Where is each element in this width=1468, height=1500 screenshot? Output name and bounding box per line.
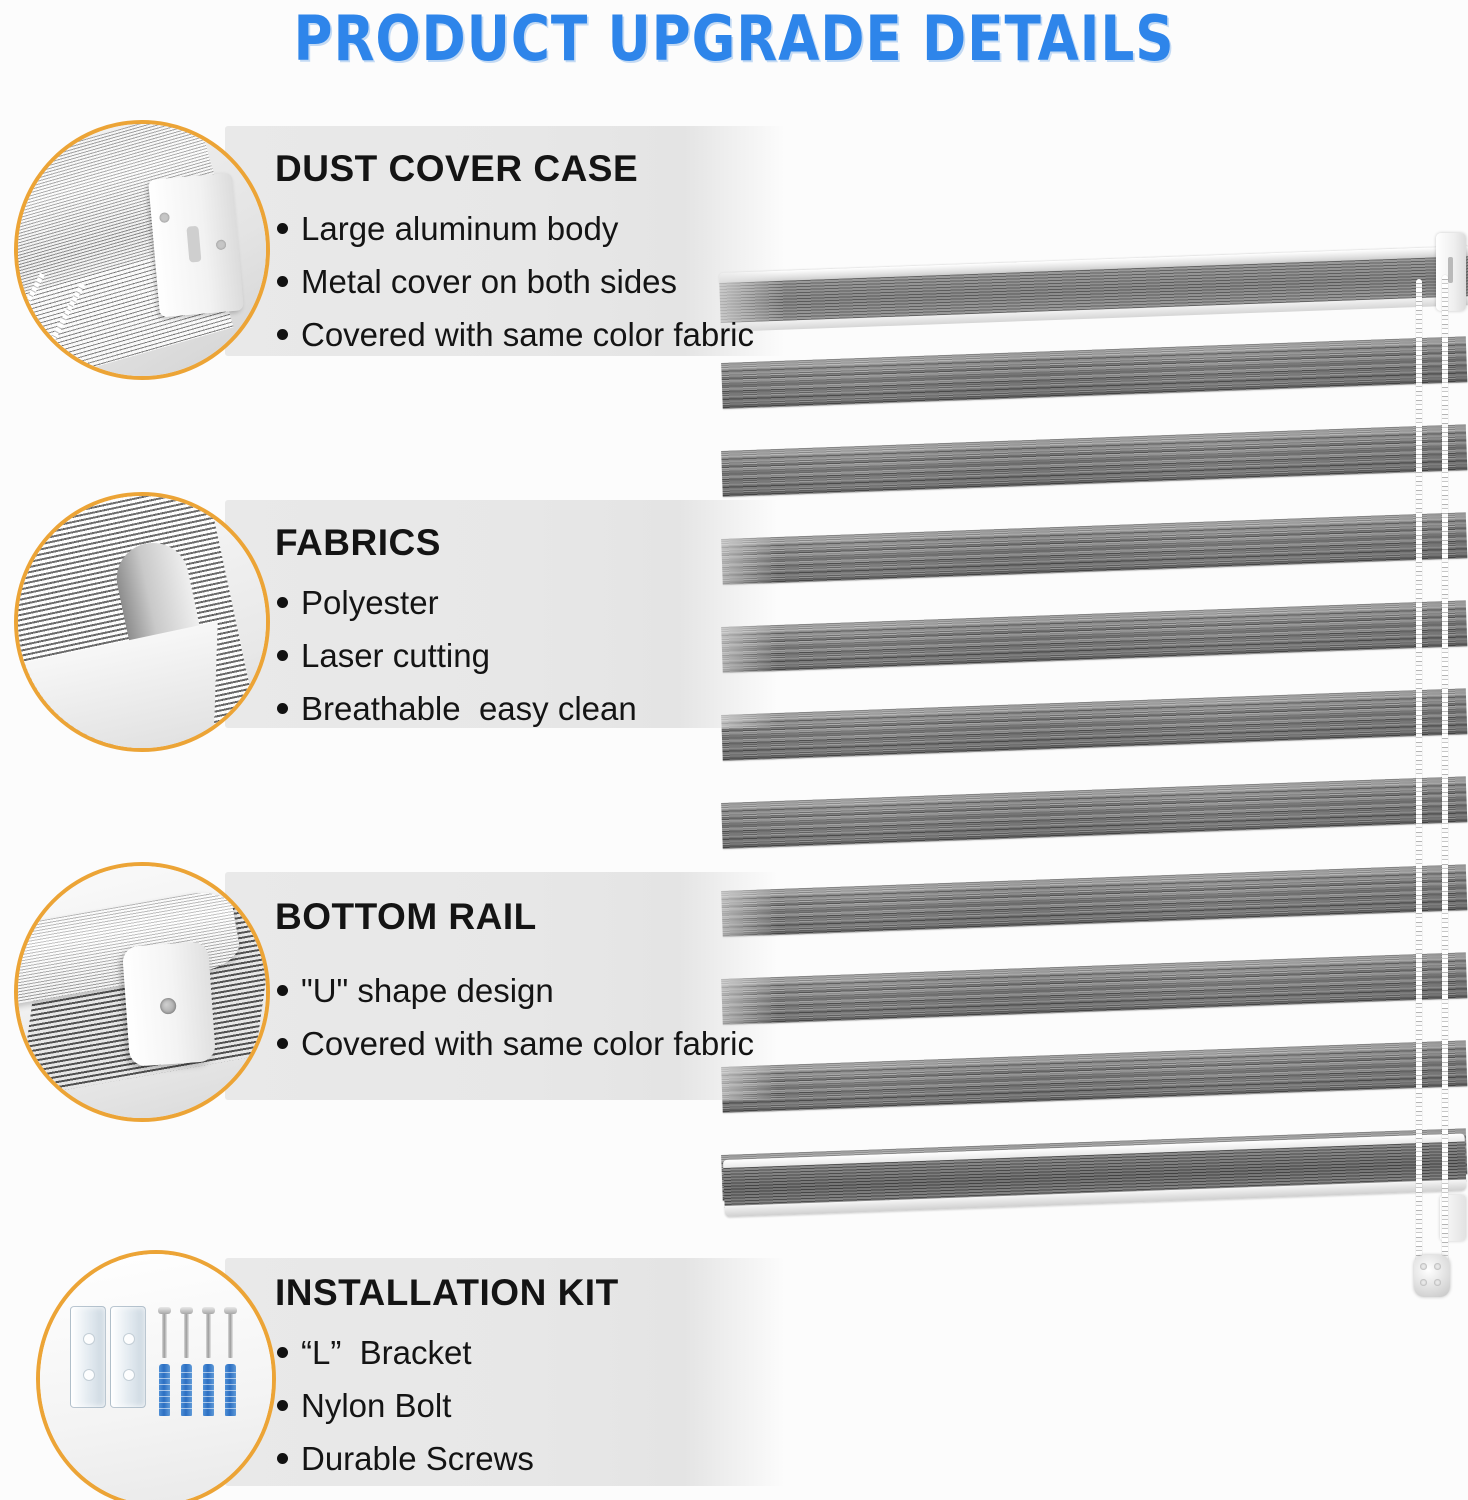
dust-cover-case-photo — [14, 120, 270, 380]
fabric-band — [721, 600, 1467, 673]
list-item: Polyester — [277, 584, 637, 622]
metal-end-plate — [148, 173, 244, 318]
section-title-fabrics: FABRICS — [275, 522, 441, 564]
list-item: Nylon Bolt — [277, 1387, 534, 1425]
bullet-dot-icon — [277, 650, 288, 661]
section-title-installation-kit: INSTALLATION KIT — [275, 1272, 619, 1314]
panel-installation-kit: INSTALLATION KIT “L” Bracket Nylon Bolt … — [225, 1258, 785, 1486]
panel-fabrics: FABRICS Polyester Laser cutting Breathab… — [225, 500, 778, 728]
nylon-anchor-icon — [203, 1364, 214, 1416]
bullet-text: Covered with same color fabric — [301, 1025, 754, 1063]
page-title: PRODUCT UPGRADE DETAILS — [103, 2, 1365, 75]
l-bracket-icon — [70, 1306, 106, 1408]
bullet-text: Breathable easy clean — [301, 690, 637, 728]
bullet-text: Laser cutting — [301, 637, 490, 675]
screw-icon — [162, 1312, 167, 1358]
list-item: Breathable easy clean — [277, 690, 637, 728]
installation-kit-photo — [36, 1250, 276, 1500]
bullet-list-fabrics: Polyester Laser cutting Breathable easy … — [277, 584, 637, 743]
bottom-rail — [723, 1133, 1467, 1218]
fabric-band — [721, 864, 1467, 937]
fabric-band — [721, 424, 1467, 497]
bullet-text: Metal cover on both sides — [301, 263, 677, 301]
fabric-band — [721, 776, 1467, 849]
bead-chain-back — [1442, 275, 1448, 1275]
screw-icon — [206, 1312, 211, 1358]
nylon-anchor-icon — [181, 1364, 192, 1416]
product-image-zebra-blind — [700, 215, 1468, 1325]
panel-dust-cover-case: DUST COVER CASE Large aluminum body Meta… — [225, 126, 785, 356]
bullet-dot-icon — [277, 329, 288, 340]
screw-icon — [228, 1312, 233, 1358]
fabric-band — [721, 1040, 1467, 1113]
bullet-dot-icon — [277, 276, 288, 287]
bullet-dot-icon — [277, 1400, 288, 1411]
end-cap-top-right — [1436, 233, 1466, 311]
bracket-slot — [1448, 257, 1453, 283]
bullet-dot-icon — [277, 703, 288, 714]
list-item: Laser cutting — [277, 637, 637, 675]
chain-connector — [1414, 1255, 1450, 1297]
infographic-page: PRODUCT UPGRADE DETAILS — [0, 0, 1468, 1500]
nylon-anchor-icon — [225, 1364, 236, 1416]
bullet-dot-icon — [277, 1038, 288, 1049]
fabric-band — [721, 336, 1467, 409]
list-item: Metal cover on both sides — [277, 263, 754, 301]
section-title-bottom-rail: BOTTOM RAIL — [275, 896, 537, 938]
hardware-group — [70, 1306, 250, 1416]
bullet-dot-icon — [277, 985, 288, 996]
list-item: "U" shape design — [277, 972, 754, 1010]
bullet-dot-icon — [277, 1347, 288, 1358]
nylon-anchor-icon — [159, 1364, 170, 1416]
bullet-text: Durable Screws — [301, 1440, 534, 1478]
head-rail — [719, 246, 1468, 333]
bullet-list-dust-cover-case: Large aluminum body Metal cover on both … — [277, 210, 754, 369]
screw-icon — [160, 998, 177, 1015]
section-title-dust-cover-case: DUST COVER CASE — [275, 148, 638, 190]
bottom-rail-photo — [14, 862, 270, 1122]
screw-icon — [184, 1312, 189, 1358]
list-item: Covered with same color fabric — [277, 316, 754, 354]
bullet-text: Covered with same color fabric — [301, 316, 754, 354]
bullet-list-installation-kit: “L” Bracket Nylon Bolt Durable Screws — [277, 1334, 534, 1493]
bullet-dot-icon — [277, 223, 288, 234]
bullet-dot-icon — [277, 597, 288, 608]
bullet-text: Nylon Bolt — [301, 1387, 451, 1425]
list-item: Large aluminum body — [277, 210, 754, 248]
rail-end-cap — [122, 941, 216, 1067]
panel-bottom-rail: BOTTOM RAIL "U" shape design Covered wit… — [225, 872, 778, 1100]
list-item: Durable Screws — [277, 1440, 534, 1478]
bullet-text: Large aluminum body — [301, 210, 618, 248]
bullet-text: "U" shape design — [301, 972, 554, 1010]
blind-inner — [700, 215, 1468, 1325]
fabric-band — [721, 952, 1467, 1025]
bullet-list-bottom-rail: "U" shape design Covered with same color… — [277, 972, 754, 1078]
bullet-text: Polyester — [301, 584, 439, 622]
bullet-text: “L” Bracket — [301, 1334, 472, 1372]
fabric-swatch-photo — [14, 492, 270, 752]
list-item: Covered with same color fabric — [277, 1025, 754, 1063]
fabric-band — [721, 688, 1467, 761]
bead-chain-front — [1416, 279, 1422, 1274]
bullet-dot-icon — [277, 1453, 288, 1464]
l-bracket-icon — [110, 1306, 146, 1408]
list-item: “L” Bracket — [277, 1334, 534, 1372]
fabric-band — [721, 512, 1467, 585]
